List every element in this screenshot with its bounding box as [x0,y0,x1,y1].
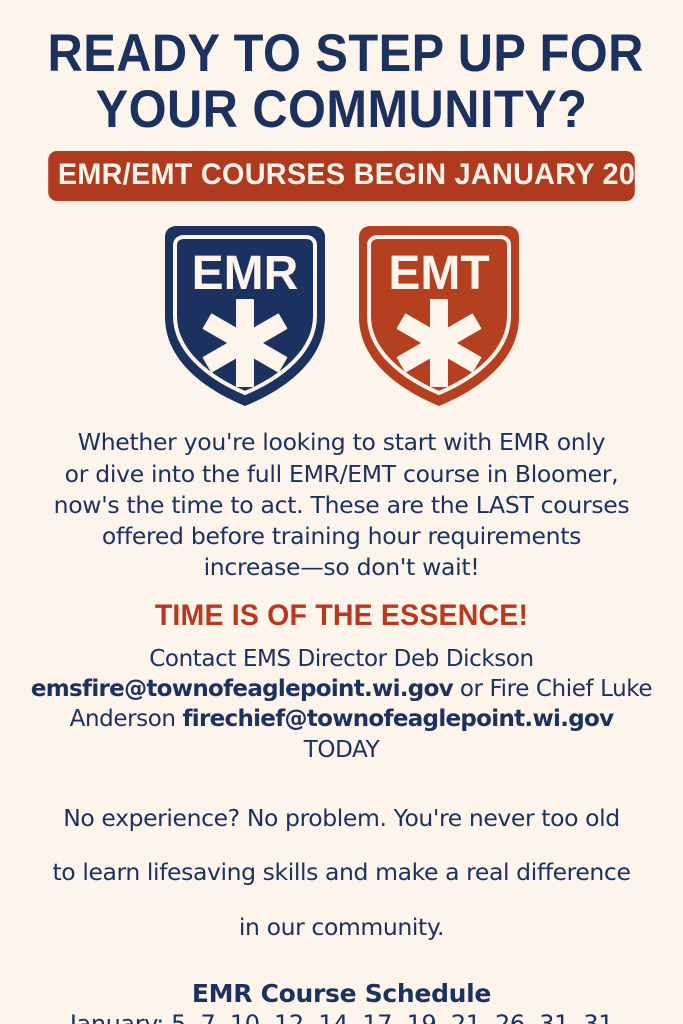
intro-line-4: offered before training hour requirement… [36,521,647,552]
announcement-banner-wrap: EMR/EMT Courses Begin January 2026! [0,138,683,201]
emr-shield-badge: EMR [157,221,333,411]
badge-row: EMR EMT [0,201,683,411]
intro-line-2: or dive into the full EMR/EMT course in … [36,459,647,490]
ems-director-email-part2[interactable]: townofeaglepoint.wi.gov [146,676,453,702]
emt-shield-badge: EMT [351,221,527,411]
flyer-poster: Ready to step up for your community? EMR… [0,0,683,1024]
intro-line-1: Whether you're looking to start with EMR… [36,427,647,458]
contact-lead-text: Contact EMS Director Deb Dickson [149,646,533,672]
headline-line-1: Ready to step up for [48,26,636,82]
urgency-headline: Time is of the essence! [17,584,666,631]
schedule-january: January: 5, 7, 10, 12, 14, 17, 19, 21, 2… [24,1009,659,1024]
announcement-banner: EMR/EMT Courses Begin January 2026! [48,151,635,201]
schedule-title: EMR Course Schedule [24,979,659,1009]
ems-director-email-part1[interactable]: emsfire@ [31,676,147,702]
course-schedule: EMR Course Schedule January: 5, 7, 10, 1… [0,967,683,1024]
page-title: Ready to step up for your community? [27,0,655,138]
headline-line-2: your community? [48,82,636,138]
closing-paragraph: No experience? No problem. You're never … [0,765,683,943]
closing-line-1: No experience? No problem. You're never … [32,803,651,834]
emr-shield-label: EMR [191,247,298,300]
intro-paragraph: Whether you're looking to start with EMR… [0,411,683,583]
emt-shield-label: EMT [388,247,489,300]
closing-line-3: in our community. [32,912,651,943]
intro-line-5: increase—so don't wait! [36,552,647,583]
closing-line-2: to learn lifesaving skills and make a re… [32,857,651,888]
fire-chief-email[interactable]: firechief@townofeaglepoint.wi.gov [182,706,613,732]
intro-line-3: now's the time to act. These are the LAS… [36,490,647,521]
contact-block: Contact EMS Director Deb Dickson emsfire… [0,631,683,765]
contact-trailing-text: TODAY [304,737,379,763]
